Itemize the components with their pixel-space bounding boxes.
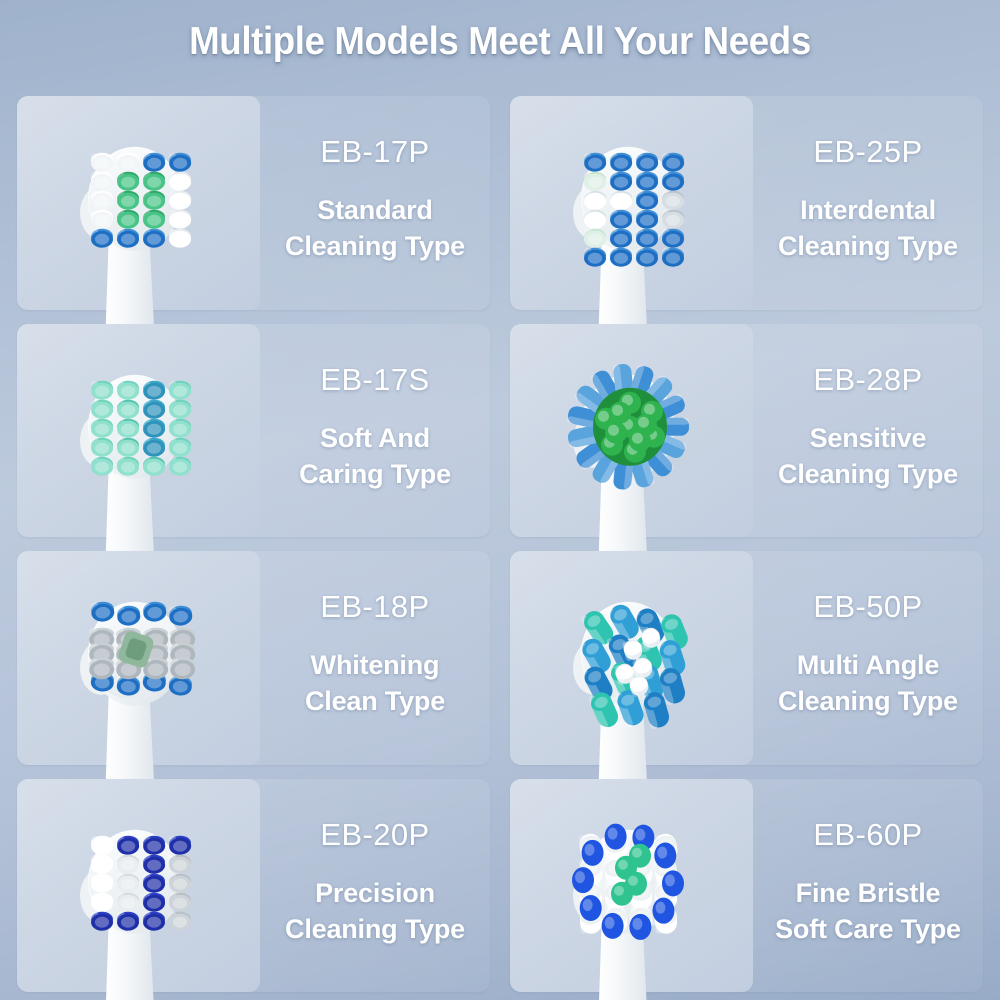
toothbrush-head-icon (17, 551, 260, 765)
card-text: EB-17S Soft And Caring Type (260, 324, 490, 538)
card-text: EB-17P Standard Cleaning Type (260, 96, 490, 310)
desc-line-1: Sensitive (810, 423, 927, 453)
model-code: EB-28P (813, 364, 922, 395)
model-card-eb-20p[interactable]: EB-20P Precision Cleaning Type (17, 779, 490, 993)
toothbrush-head-icon (17, 96, 260, 310)
desc-line-2: Cleaning Type (778, 229, 958, 265)
model-card-eb-17p[interactable]: EB-17P Standard Cleaning Type (17, 96, 490, 310)
card-text: EB-25P Interdental Cleaning Type (753, 96, 983, 310)
model-description: Soft And Caring Type (299, 421, 451, 493)
card-text: EB-20P Precision Cleaning Type (260, 779, 490, 993)
desc-line-1: Multi Angle (797, 650, 939, 680)
desc-line-2: Cleaning Type (285, 912, 465, 948)
desc-line-1: Standard (317, 195, 432, 225)
model-description: Whitening Clean Type (305, 648, 445, 720)
desc-line-2: Clean Type (305, 684, 445, 720)
desc-line-1: Interdental (800, 195, 936, 225)
model-code: EB-17P (320, 136, 429, 167)
desc-line-1: Fine Bristle (796, 878, 941, 908)
desc-line-1: Whitening (311, 650, 440, 680)
model-card-eb-60p[interactable]: EB-60P Fine Bristle Soft Care Type (510, 779, 983, 993)
model-card-eb-28p[interactable]: EB-28P Sensitive Cleaning Type (510, 324, 983, 538)
model-description: Standard Cleaning Type (285, 193, 465, 265)
card-text: EB-60P Fine Bristle Soft Care Type (753, 779, 983, 993)
desc-line-1: Precision (315, 878, 435, 908)
model-code: EB-17S (320, 364, 429, 395)
model-description: Sensitive Cleaning Type (778, 421, 958, 493)
models-grid: EB-17P Standard Cleaning Type EB-25P Int… (17, 96, 983, 992)
model-description: Multi Angle Cleaning Type (778, 648, 958, 720)
desc-line-2: Cleaning Type (285, 229, 465, 265)
model-card-eb-18p[interactable]: EB-18P Whitening Clean Type (17, 551, 490, 765)
page-title: Multiple Models Meet All Your Needs (30, 0, 970, 61)
card-text: EB-50P Multi Angle Cleaning Type (753, 551, 983, 765)
desc-line-2: Cleaning Type (778, 457, 958, 493)
model-code: EB-25P (813, 136, 922, 167)
desc-line-2: Cleaning Type (778, 684, 958, 720)
toothbrush-head-icon (510, 96, 753, 310)
toothbrush-head-icon (510, 779, 753, 993)
model-description: Precision Cleaning Type (285, 876, 465, 948)
toothbrush-head-icon (510, 551, 753, 765)
desc-line-2: Soft Care Type (775, 912, 961, 948)
model-description: Fine Bristle Soft Care Type (775, 876, 961, 948)
model-code: EB-18P (320, 591, 429, 622)
model-code: EB-20P (320, 819, 429, 850)
model-card-eb-25p[interactable]: EB-25P Interdental Cleaning Type (510, 96, 983, 310)
toothbrush-head-icon (17, 779, 260, 993)
desc-line-1: Soft And (320, 423, 430, 453)
model-code: EB-50P (813, 591, 922, 622)
model-code: EB-60P (813, 819, 922, 850)
card-text: EB-18P Whitening Clean Type (260, 551, 490, 765)
model-description: Interdental Cleaning Type (778, 193, 958, 265)
model-card-eb-50p[interactable]: EB-50P Multi Angle Cleaning Type (510, 551, 983, 765)
model-card-eb-17s[interactable]: EB-17S Soft And Caring Type (17, 324, 490, 538)
toothbrush-head-icon (17, 324, 260, 538)
desc-line-2: Caring Type (299, 457, 451, 493)
card-text: EB-28P Sensitive Cleaning Type (753, 324, 983, 538)
toothbrush-head-icon (510, 324, 753, 538)
